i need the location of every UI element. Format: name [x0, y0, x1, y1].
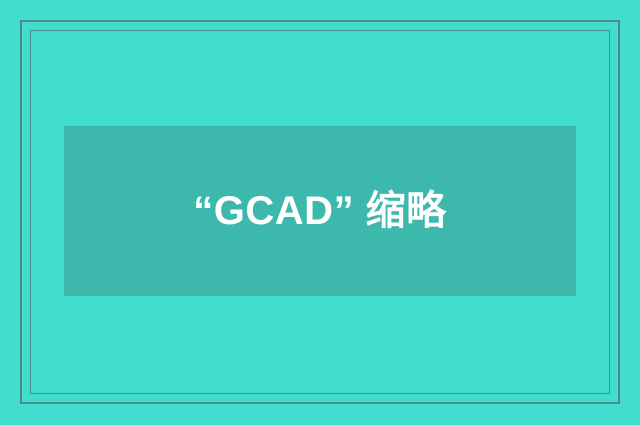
banner-panel: “GCAD” 缩略: [64, 126, 576, 296]
banner-title: “GCAD” 缩略: [193, 189, 446, 233]
slide-canvas: “GCAD” 缩略: [0, 0, 640, 425]
